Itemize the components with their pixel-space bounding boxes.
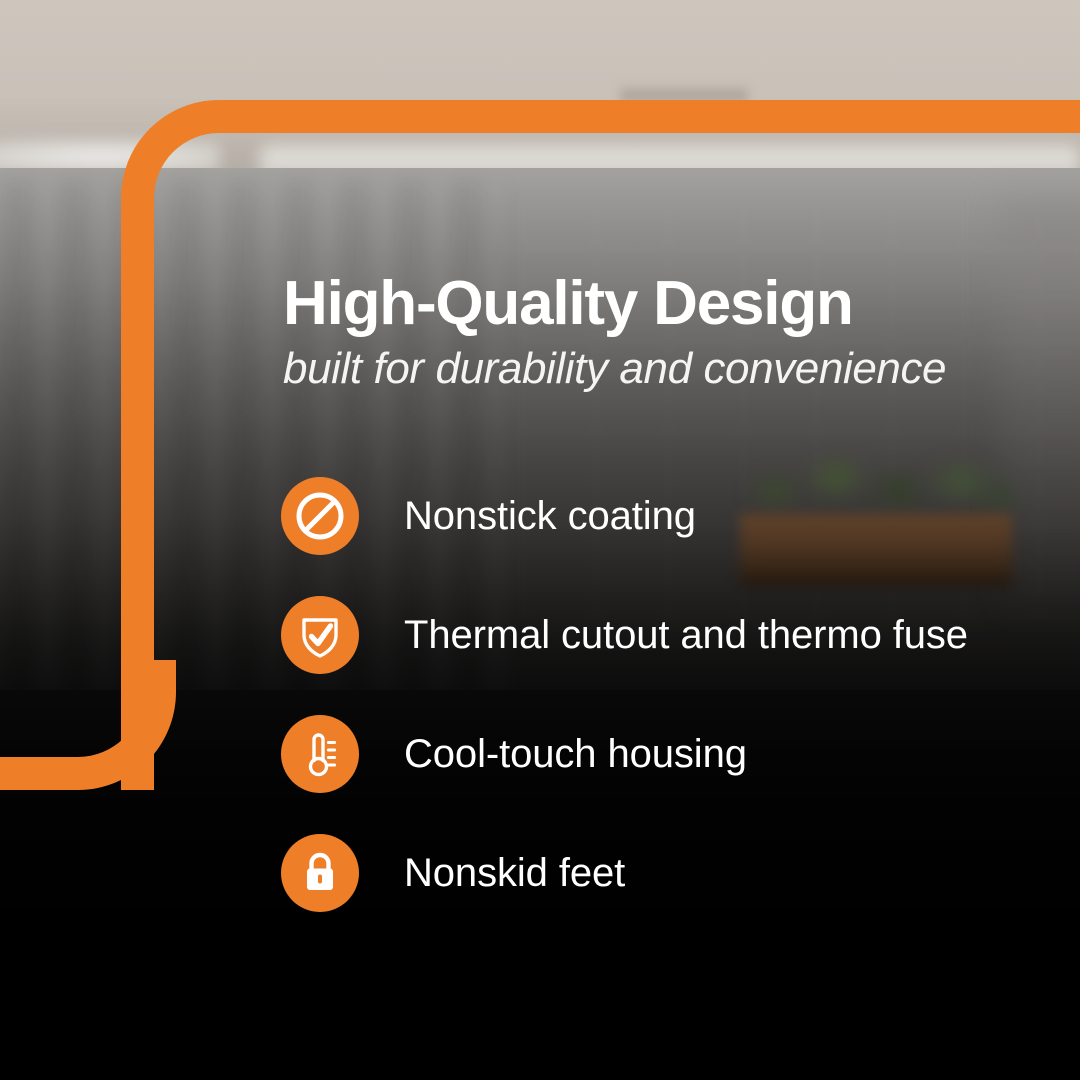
feature-list: Nonstick coating Thermal cutout and ther… bbox=[281, 477, 1041, 912]
list-item: Nonskid feet bbox=[281, 834, 1041, 912]
list-item-label: Nonskid feet bbox=[404, 853, 625, 893]
list-item: Thermal cutout and thermo fuse bbox=[281, 596, 1041, 674]
page-subtitle: built for durability and convenience bbox=[283, 344, 1043, 393]
list-item: Cool-touch housing bbox=[281, 715, 1041, 793]
list-item-label: Nonstick coating bbox=[404, 496, 696, 536]
thermometer-icon bbox=[281, 715, 359, 793]
lock-icon bbox=[281, 834, 359, 912]
shield-check-icon bbox=[281, 596, 359, 674]
heading-block: High-Quality Design built for durability… bbox=[283, 271, 1043, 393]
list-item: Nonstick coating bbox=[281, 477, 1041, 555]
list-item-label: Cool-touch housing bbox=[404, 734, 747, 774]
promo-graphic: High-Quality Design built for durability… bbox=[0, 0, 1080, 1080]
list-item-label: Thermal cutout and thermo fuse bbox=[404, 615, 968, 655]
content-area: High-Quality Design built for durability… bbox=[0, 0, 1080, 1080]
prohibited-icon bbox=[281, 477, 359, 555]
page-title: High-Quality Design bbox=[283, 271, 1043, 338]
